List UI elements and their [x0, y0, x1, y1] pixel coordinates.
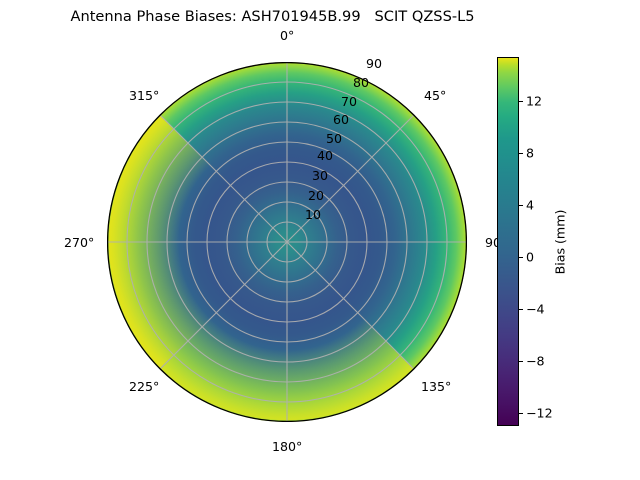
theta-label-45: 45°: [424, 88, 446, 103]
colorbar-ticklabel-neg4: −4: [526, 302, 545, 317]
page-title: Antenna Phase Biases: ASH701945B.99 SCIT…: [0, 8, 545, 25]
theta-label-270: 270°: [64, 235, 94, 250]
r-label-90: 90: [366, 56, 382, 71]
colorbar-ticklabel-neg12: −12: [526, 406, 553, 421]
r-label-10: 10: [305, 207, 321, 222]
theta-label-225: 225°: [129, 379, 159, 394]
r-label-40: 40: [317, 148, 333, 163]
r-label-60: 60: [333, 112, 349, 127]
theta-label-180: 180°: [272, 439, 302, 454]
polar-plot-surface: [107, 62, 467, 422]
r-label-80: 80: [353, 75, 369, 90]
r-label-70: 70: [341, 94, 357, 109]
colorbar-tick-4: [519, 205, 523, 206]
polar-grid: [107, 62, 467, 422]
colorbar-tick-12: [519, 101, 523, 102]
theta-label-135: 135°: [421, 379, 451, 394]
colorbar-tick-neg8: [519, 361, 523, 362]
colorbar-ticklabel-neg8: −8: [526, 354, 545, 369]
figure-canvas: Antenna Phase Biases: ASH701945B.99 SCIT…: [0, 0, 640, 480]
colorbar-ticklabel-8: 8: [526, 146, 534, 161]
theta-label-0: 0°: [280, 28, 294, 43]
colorbar-tick-neg12: [519, 413, 523, 414]
r-label-30: 30: [312, 168, 328, 183]
r-label-20: 20: [308, 188, 324, 203]
polar-axes[interactable]: [107, 62, 467, 422]
colorbar-tick-8: [519, 153, 523, 154]
colorbar-axis-label: Bias (mm): [553, 210, 568, 275]
colorbar-ticklabel-0: 0: [526, 250, 534, 265]
colorbar-tick-neg4: [519, 309, 523, 310]
colorbar-gradient: [497, 57, 519, 426]
colorbar-ticklabel-12: 12: [526, 94, 542, 109]
colorbar[interactable]: 12 8 4 0 −4 −8 −12: [497, 57, 519, 426]
theta-label-315: 315°: [129, 88, 159, 103]
colorbar-ticklabel-4: 4: [526, 198, 534, 213]
colorbar-tick-0: [519, 257, 523, 258]
r-label-50: 50: [326, 131, 342, 146]
